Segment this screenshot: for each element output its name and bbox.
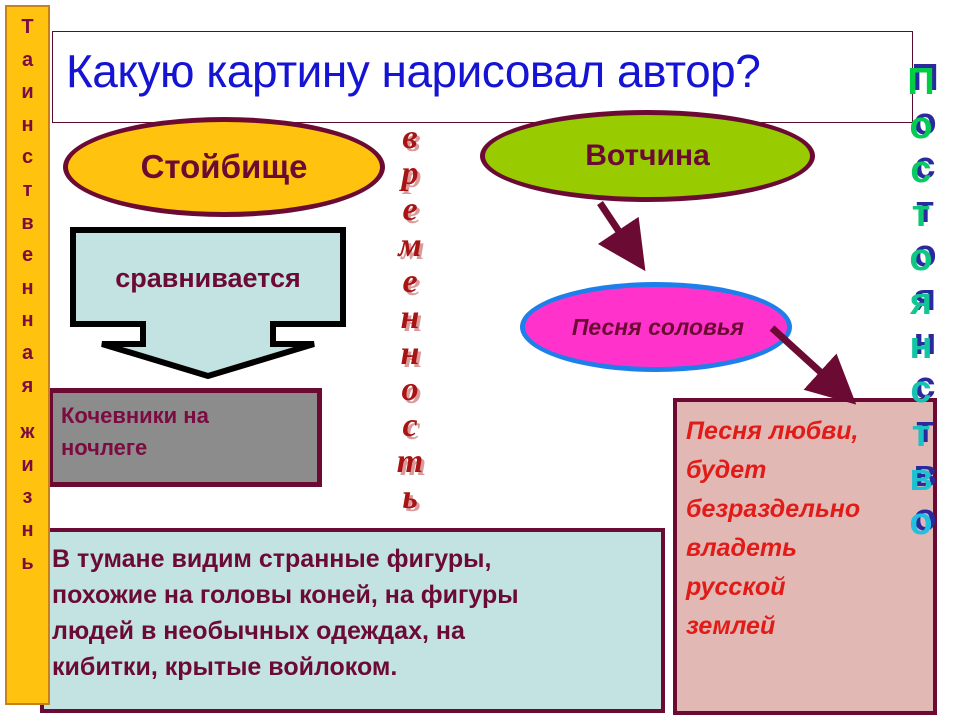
quote-line: людей в необычных одеждах, на [52, 613, 655, 649]
node-stoybishche: Стойбище [63, 117, 385, 217]
banner-char: и [7, 76, 48, 109]
wordart-char: о [909, 236, 932, 280]
wordart-char: с [402, 408, 417, 444]
wordart-char: т [397, 444, 423, 480]
love-line: землей [686, 607, 929, 646]
wordart-char: о [909, 500, 932, 544]
wordart-char: ь [402, 480, 418, 516]
slide-canvas: Какую картину нарисовал автор? Т а и н с… [0, 0, 960, 720]
nomads-line: ночлеге [61, 432, 311, 464]
banner-char: ь [7, 547, 48, 580]
banner-char: з [7, 481, 48, 514]
wordart-char: с [910, 148, 931, 192]
compare-arrow-polygon [73, 230, 343, 376]
node-votchina-label: Вотчина [585, 139, 710, 173]
quote-box: В тумане видим странные фигуры, похожие … [40, 528, 665, 713]
wordart-char: т [912, 412, 931, 456]
wordart-char: н [910, 324, 933, 368]
arrow-votchina-to-pesnya [600, 203, 640, 263]
banner-char: т [7, 174, 48, 207]
banner-char: е [7, 239, 48, 272]
banner-char: н [7, 272, 48, 305]
compare-label: сравнивается [70, 255, 346, 301]
banner-char: с [7, 141, 48, 174]
node-pesnya-solovya: Песня соловья [520, 282, 792, 372]
banner-char: н [7, 304, 48, 337]
wordart-char: н [401, 336, 420, 372]
wordart-char: н [401, 300, 420, 336]
wordart-char: т [912, 192, 931, 236]
wordart-char: о [402, 372, 419, 408]
wordart-char: о [909, 104, 932, 148]
banner-char: н [7, 109, 48, 142]
node-stoybishche-label: Стойбище [141, 148, 308, 186]
quote-line: В тумане видим странные фигуры, [52, 541, 655, 577]
page-title: Какую картину нарисовал автор? [66, 44, 926, 114]
wordart-vremennost: в р е м е н н о с т ь [380, 120, 440, 516]
banner-char: в [7, 207, 48, 240]
node-votchina: Вотчина [480, 110, 815, 202]
banner-char: Т [7, 11, 48, 44]
love-line: русской [686, 568, 929, 607]
nomads-line: Кочевники на [61, 400, 311, 432]
wordart-char: е [402, 264, 417, 300]
quote-line: похожие на головы коней, на фигуры [52, 577, 655, 613]
banner-char: а [7, 337, 48, 370]
banner-char: ж [7, 416, 48, 449]
left-vertical-banner: Т а и н с т в е н н а я ж и з н ь [5, 5, 50, 705]
banner-char: я [7, 370, 48, 403]
wordart-char: я [910, 280, 932, 324]
compare-down-arrow-shape [70, 227, 346, 379]
banner-char: а [7, 44, 48, 77]
wordart-char: р [402, 156, 419, 192]
wordart-char: е [402, 192, 417, 228]
wordart-char: с [910, 368, 931, 412]
wordart-char: в [909, 456, 932, 500]
wordart-char: м [398, 228, 421, 264]
wordart-postoyanstvo: П о с т о я н с т в о [890, 60, 952, 544]
node-nomads-box: Кочевники на ночлеге [48, 388, 322, 487]
banner-char: н [7, 514, 48, 547]
wordart-char: в [402, 120, 417, 156]
node-pesnya-label: Песня соловья [568, 314, 744, 341]
banner-char: и [7, 449, 48, 482]
wordart-char: П [907, 60, 934, 104]
quote-line: кибитки, крытые войлоком. [52, 649, 655, 685]
